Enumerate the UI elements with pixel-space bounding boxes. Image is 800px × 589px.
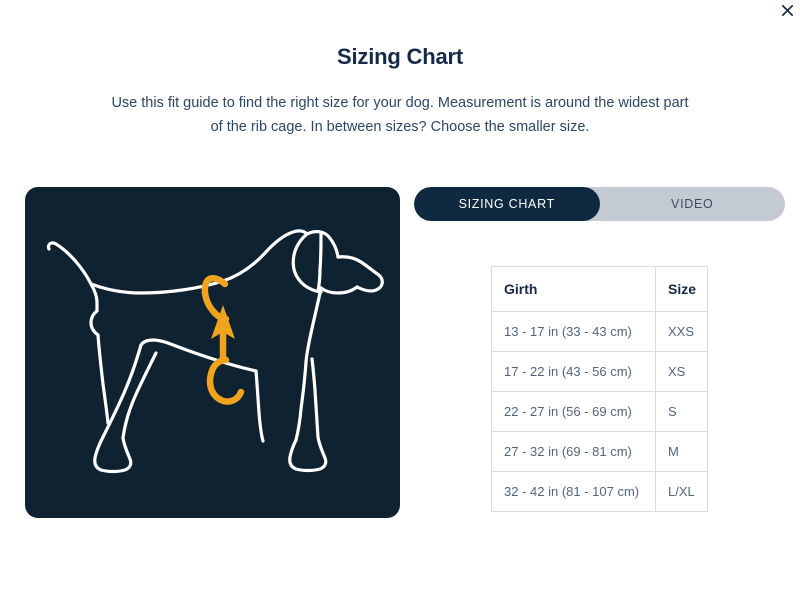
- modal-description: Use this fit guide to find the right siz…: [105, 92, 695, 139]
- modal-body: SIZING CHART VIDEO Girth Size 13 - 17 in…: [0, 187, 800, 547]
- size-table-container: Girth Size 13 - 17 in (33 - 43 cm) XXS 1…: [491, 266, 785, 512]
- sizing-info-column: SIZING CHART VIDEO Girth Size 13 - 17 in…: [414, 187, 785, 512]
- cell-girth: 32 - 42 in (81 - 107 cm): [492, 472, 656, 512]
- table-row: 27 - 32 in (69 - 81 cm) M: [492, 432, 708, 472]
- cell-size: M: [656, 432, 708, 472]
- size-table: Girth Size 13 - 17 in (33 - 43 cm) XXS 1…: [491, 266, 708, 512]
- cell-size: XS: [656, 352, 708, 392]
- cell-girth: 13 - 17 in (33 - 43 cm): [492, 312, 656, 352]
- column-header-girth: Girth: [492, 267, 656, 312]
- cell-girth: 22 - 27 in (56 - 69 cm): [492, 392, 656, 432]
- tab-sizing-chart[interactable]: SIZING CHART: [414, 187, 600, 221]
- close-modal-button[interactable]: [777, 0, 797, 20]
- cell-girth: 17 - 22 in (43 - 56 cm): [492, 352, 656, 392]
- page-title: Sizing Chart: [0, 44, 800, 70]
- table-header-row: Girth Size: [492, 267, 708, 312]
- tab-video[interactable]: VIDEO: [600, 187, 786, 221]
- cell-size: XXS: [656, 312, 708, 352]
- table-row: 32 - 42 in (81 - 107 cm) L/XL: [492, 472, 708, 512]
- cell-girth: 27 - 32 in (69 - 81 cm): [492, 432, 656, 472]
- table-row: 13 - 17 in (33 - 43 cm) XXS: [492, 312, 708, 352]
- table-row: 17 - 22 in (43 - 56 cm) XS: [492, 352, 708, 392]
- sizing-tabs: SIZING CHART VIDEO: [414, 187, 785, 221]
- close-icon: [782, 5, 793, 16]
- table-row: 22 - 27 in (56 - 69 cm) S: [492, 392, 708, 432]
- dog-outline-icon: [48, 231, 382, 472]
- modal-header: Sizing Chart Use this fit guide to find …: [0, 0, 800, 139]
- cell-size: L/XL: [656, 472, 708, 512]
- girth-measure-band-icon: [205, 279, 241, 402]
- cell-size: S: [656, 392, 708, 432]
- column-header-size: Size: [656, 267, 708, 312]
- dog-measurement-illustration: [25, 187, 400, 518]
